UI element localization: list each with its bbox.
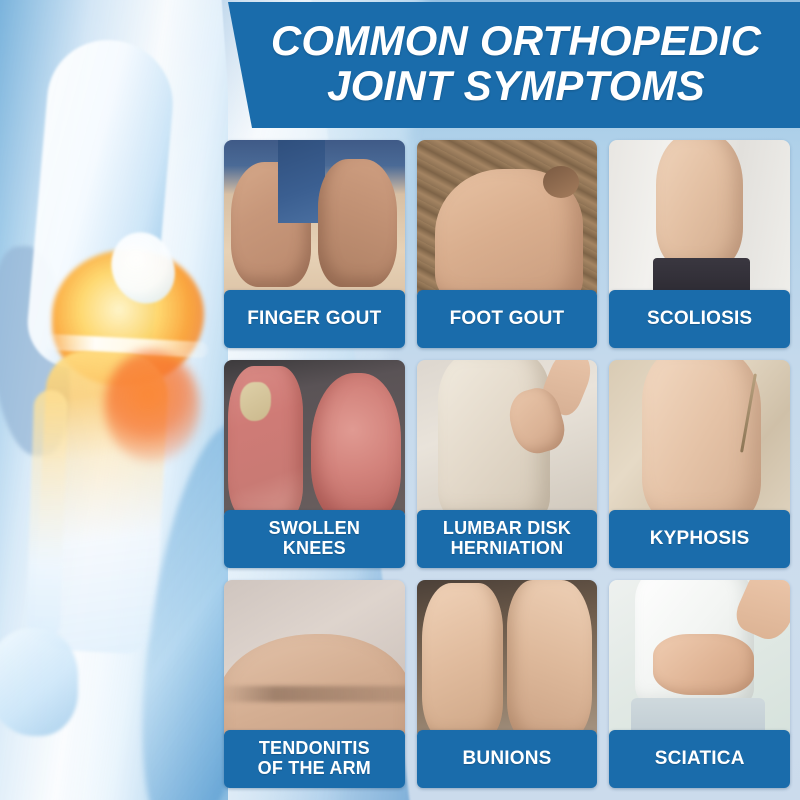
page-title: COMMON ORTHOPEDIC JOINT SYMPTOMS xyxy=(247,19,775,110)
foot-gout-photo xyxy=(417,140,598,300)
symptom-card-label: SCIATICA xyxy=(609,730,790,788)
bunions-photo xyxy=(417,580,598,740)
symptom-card[interactable]: FINGER GOUT xyxy=(224,140,405,348)
symptom-card-label: KYPHOSIS xyxy=(609,510,790,568)
symptom-card[interactable]: SWOLLEN KNEES xyxy=(224,360,405,568)
symptom-card-label-text: SCOLIOSIS xyxy=(641,305,758,334)
lower-leg-contour xyxy=(0,628,78,736)
finger-gout-photo xyxy=(224,140,405,300)
symptom-card-label: SWOLLEN KNEES xyxy=(224,510,405,568)
symptom-card[interactable]: LUMBAR DISK HERNIATION xyxy=(417,360,598,568)
symptom-card-label-text: FINGER GOUT xyxy=(241,305,387,334)
symptom-card[interactable]: SCIATICA xyxy=(609,580,790,788)
symptom-card-label-text: TENDONITIS OF THE ARM xyxy=(252,735,377,783)
symptom-card-label: FOOT GOUT xyxy=(417,290,598,348)
symptom-card[interactable]: KYPHOSIS xyxy=(609,360,790,568)
tendonitis-of-the-arm-photo xyxy=(224,580,405,740)
infographic-poster: COMMON ORTHOPEDIC JOINT SYMPTOMS FINGER … xyxy=(0,0,800,800)
kyphosis-photo xyxy=(609,360,790,520)
symptom-card-label-text: KYPHOSIS xyxy=(644,525,756,554)
symptom-card-label: SCOLIOSIS xyxy=(609,290,790,348)
scoliosis-photo xyxy=(609,140,790,300)
symptom-card-label: BUNIONS xyxy=(417,730,598,788)
symptom-card[interactable]: FOOT GOUT xyxy=(417,140,598,348)
symptom-card[interactable]: SCOLIOSIS xyxy=(609,140,790,348)
inflamed-tibial-plateau xyxy=(104,350,200,462)
sciatica-photo xyxy=(609,580,790,740)
lumbar-disk-herniation-photo xyxy=(417,360,598,520)
symptom-card-grid: FINGER GOUT FOOT GOUT SCOLIOSIS xyxy=(224,140,790,788)
symptom-card-label: FINGER GOUT xyxy=(224,290,405,348)
symptom-card[interactable]: BUNIONS xyxy=(417,580,598,788)
symptom-card-label: TENDONITIS OF THE ARM xyxy=(224,730,405,788)
symptom-card-label-text: LUMBAR DISK HERNIATION xyxy=(437,515,577,563)
symptom-card-label: LUMBAR DISK HERNIATION xyxy=(417,510,598,568)
symptom-card-label-text: FOOT GOUT xyxy=(444,305,571,334)
symptom-card-label-text: SCIATICA xyxy=(649,745,751,774)
swollen-knees-photo xyxy=(224,360,405,520)
symptom-card[interactable]: TENDONITIS OF THE ARM xyxy=(224,580,405,788)
symptom-card-label-text: BUNIONS xyxy=(456,745,557,774)
title-banner: COMMON ORTHOPEDIC JOINT SYMPTOMS xyxy=(222,2,800,128)
symptom-card-label-text: SWOLLEN KNEES xyxy=(263,515,366,563)
knee-joint-xray-illustration xyxy=(0,0,228,800)
